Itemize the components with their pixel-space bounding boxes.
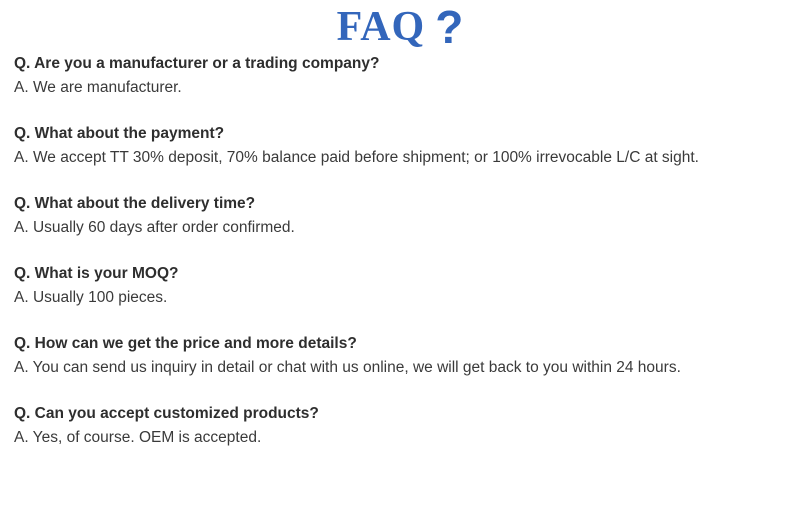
faq-answer: A. We accept TT 30% deposit, 70% balance…	[14, 146, 786, 170]
faq-page: FAQ? Q. Are you a manufacturer or a trad…	[0, 0, 800, 525]
faq-item: Q. What about the payment? A. We accept …	[14, 122, 786, 170]
faq-item: Q. Are you a manufacturer or a trading c…	[14, 52, 786, 100]
faq-item: Q. Can you accept customized products? A…	[14, 402, 786, 450]
faq-question: Q. How can we get the price and more det…	[14, 332, 786, 356]
faq-question: Q. What about the payment?	[14, 122, 786, 146]
faq-list: Q. Are you a manufacturer or a trading c…	[0, 52, 800, 450]
faq-answer: A. We are manufacturer.	[14, 76, 786, 100]
question-mark-icon: ?	[435, 1, 463, 53]
faq-question: Q. What is your MOQ?	[14, 262, 786, 286]
faq-question: Q. Can you accept customized products?	[14, 402, 786, 426]
faq-answer: A. Usually 100 pieces.	[14, 286, 786, 310]
faq-answer: A. Usually 60 days after order confirmed…	[14, 216, 786, 240]
faq-item: Q. How can we get the price and more det…	[14, 332, 786, 380]
faq-question: Q. Are you a manufacturer or a trading c…	[14, 52, 786, 76]
faq-title-word: FAQ	[337, 4, 426, 50]
faq-item: Q. What is your MOQ? A. Usually 100 piec…	[14, 262, 786, 310]
page-title: FAQ?	[0, 0, 800, 52]
faq-answer: A. Yes, of course. OEM is accepted.	[14, 426, 786, 450]
faq-answer: A. You can send us inquiry in detail or …	[14, 356, 786, 380]
faq-item: Q. What about the delivery time? A. Usua…	[14, 192, 786, 240]
faq-question: Q. What about the delivery time?	[14, 192, 786, 216]
